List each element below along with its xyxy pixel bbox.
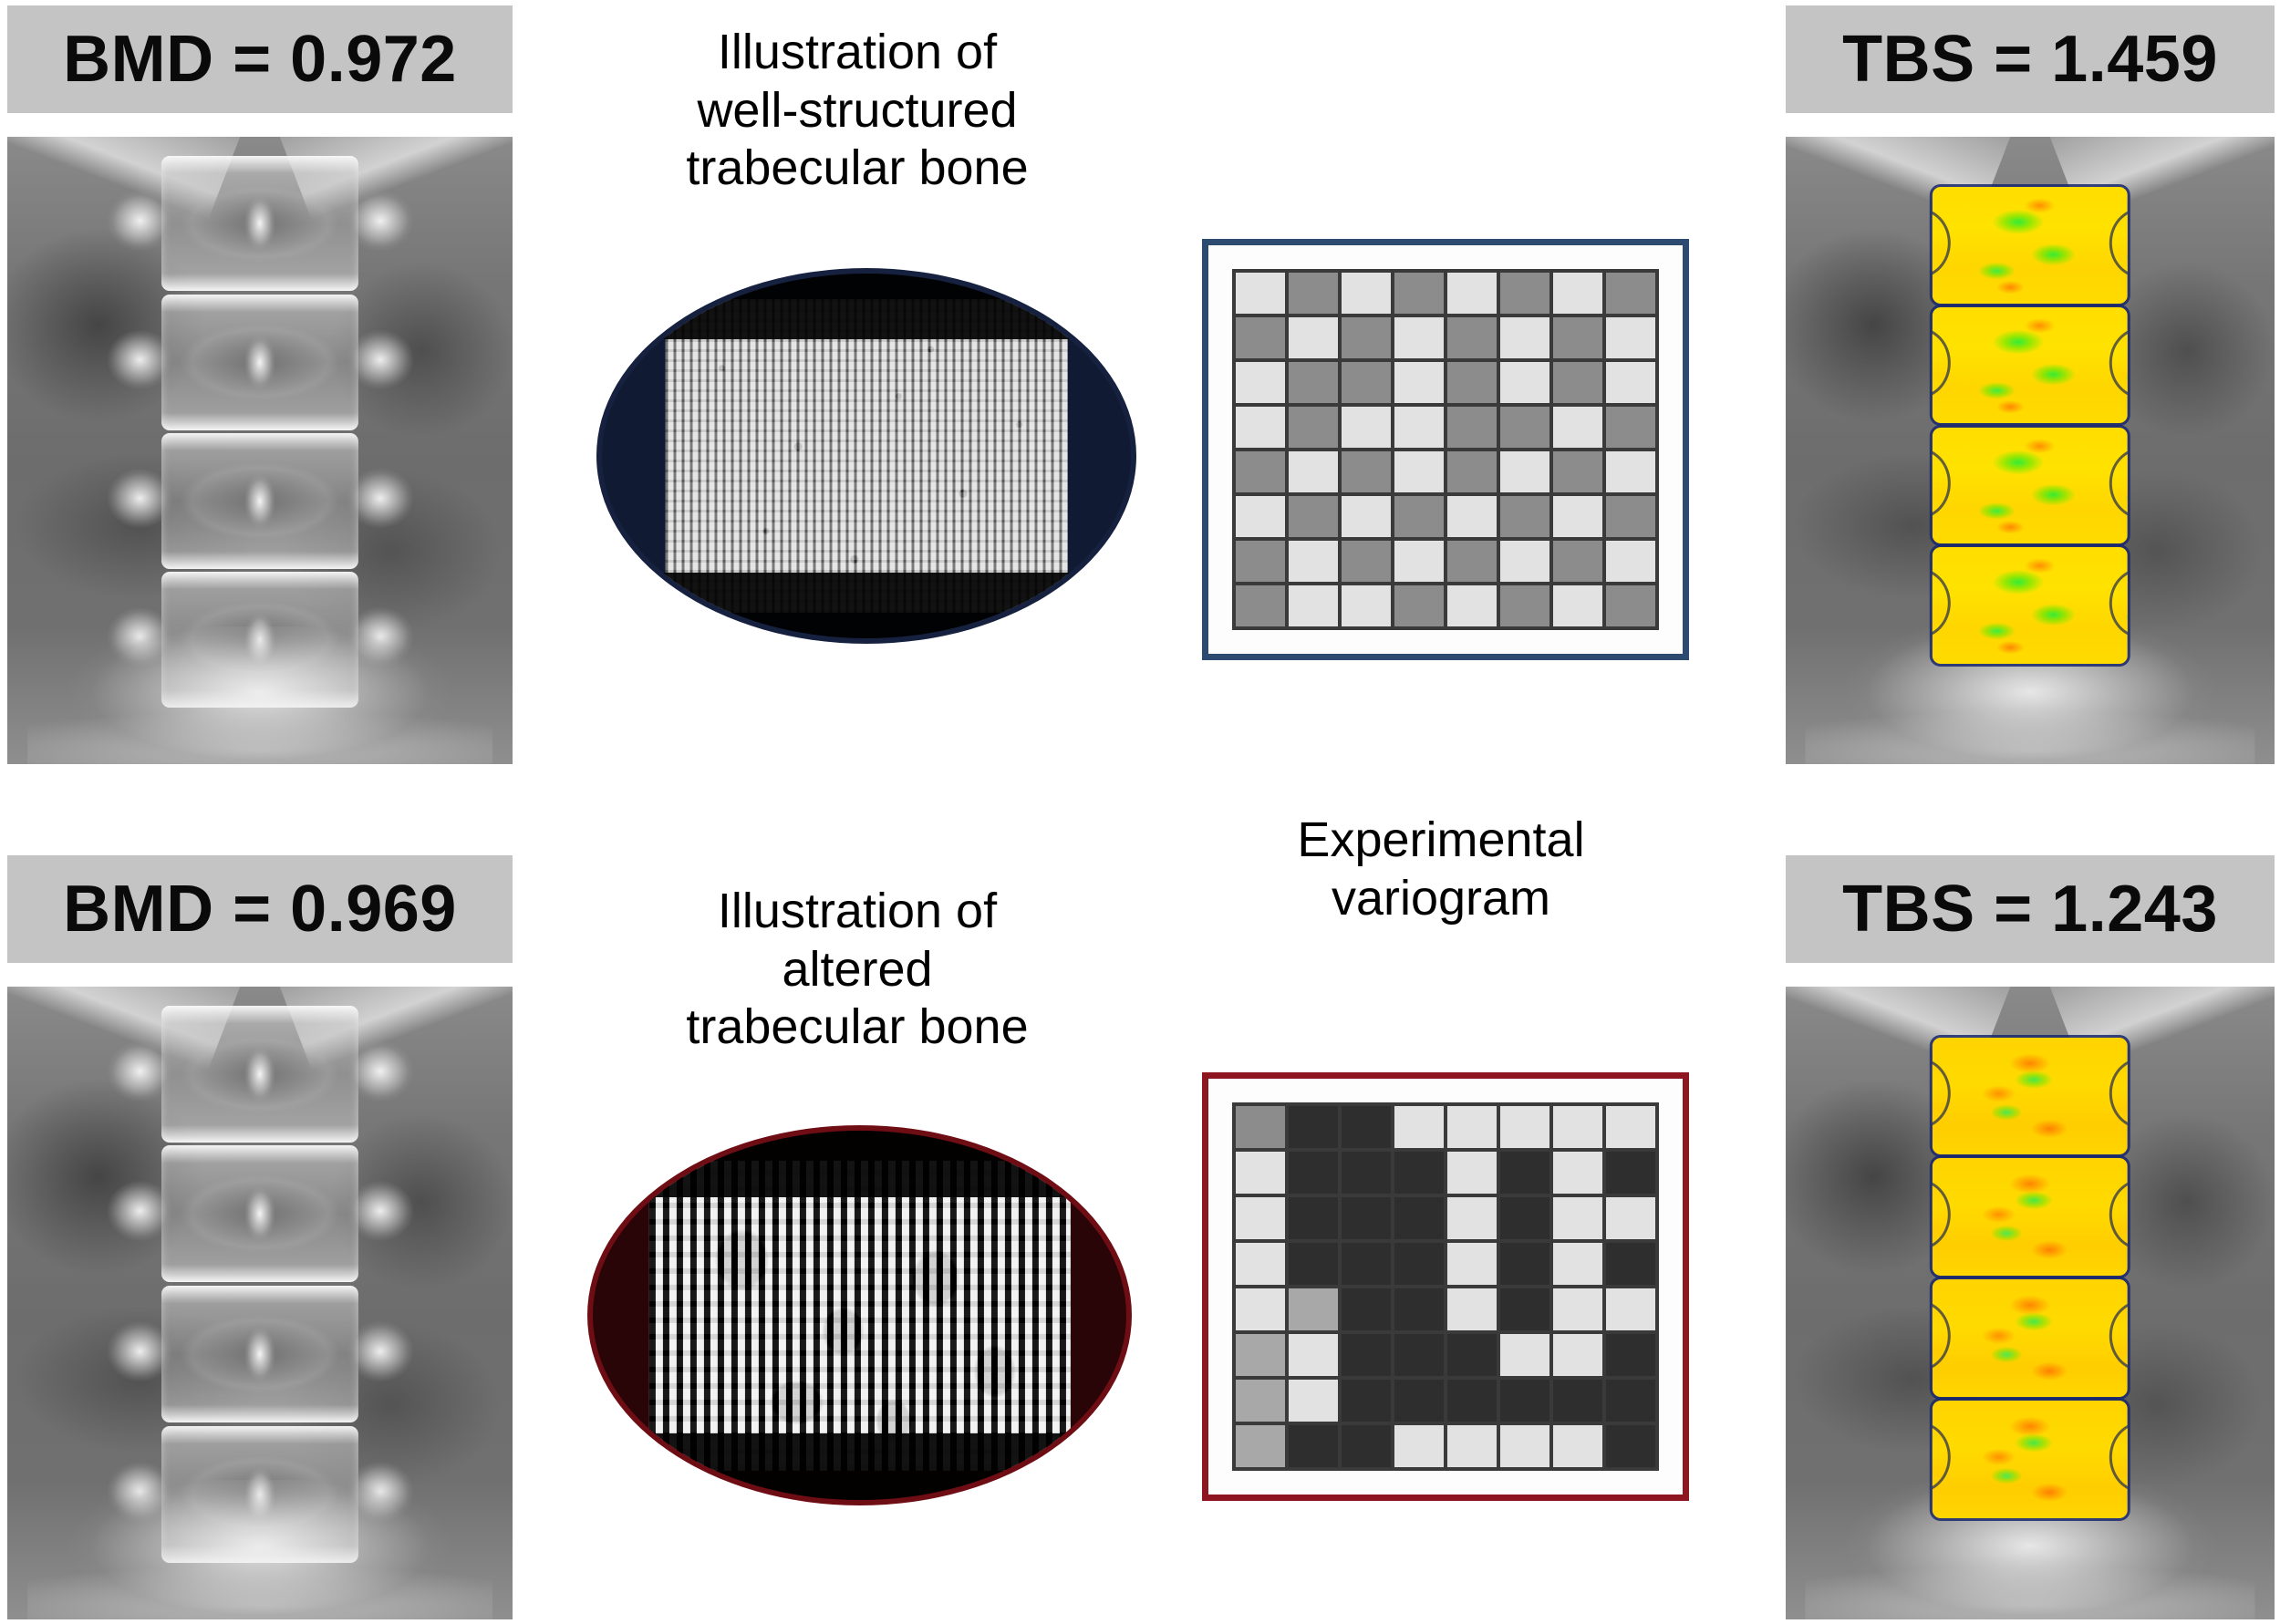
variogram-cell-r4-c7 <box>1553 1243 1602 1285</box>
variogram-cell-r2-c2 <box>1289 317 1338 358</box>
vertebra-l3 <box>161 1286 358 1422</box>
variogram-cell-r7-c7 <box>1553 541 1602 582</box>
spinous-process-icon <box>241 1181 278 1246</box>
variogram-cell-r6-c3 <box>1342 1334 1391 1376</box>
variogram-cell-r5-c1 <box>1236 451 1285 492</box>
variogram-cell-r6-c7 <box>1553 496 1602 537</box>
variogram-cell-r3-c4 <box>1394 362 1444 403</box>
variogram-cell-r7-c3 <box>1342 541 1391 582</box>
variogram-cell-r3-c7 <box>1553 1197 1602 1239</box>
variogram-cell-r1-c5 <box>1447 273 1497 314</box>
variogram-cell-r5-c5 <box>1447 451 1497 492</box>
tbs-vertebra-l2 <box>1933 307 2128 424</box>
tbs-bmd-comparison-figure: BMD = 0.972 Illustration of well-structu… <box>0 0 2280 1624</box>
vertebra-l1 <box>161 1006 358 1143</box>
variogram-cell-r7-c7 <box>1553 1380 1602 1422</box>
variogram-cell-r1-c8 <box>1606 1106 1655 1148</box>
variogram-cell-r1-c5 <box>1447 1106 1497 1148</box>
variogram-cell-r8-c6 <box>1500 585 1549 626</box>
variogram-cell-r7-c2 <box>1289 1380 1338 1422</box>
variogram-cell-r6-c5 <box>1447 496 1497 537</box>
variogram-cell-r6-c6 <box>1500 1334 1549 1376</box>
variogram-cell-r3-c7 <box>1553 362 1602 403</box>
variogram-cell-r7-c1 <box>1236 541 1285 582</box>
variogram-cell-r8-c6 <box>1500 1425 1549 1467</box>
bone-shade-top <box>593 1131 1126 1197</box>
variogram-cell-r3-c8 <box>1606 362 1655 403</box>
spinous-process-icon <box>241 1041 278 1107</box>
variogram-cell-r4-c7 <box>1553 407 1602 448</box>
bone-shade-top <box>602 274 1131 339</box>
variogram-cell-r7-c2 <box>1289 541 1338 582</box>
variogram-cell-r2-c4 <box>1394 1152 1444 1194</box>
variogram-cell-r5-c6 <box>1500 451 1549 492</box>
variogram-cell-r7-c5 <box>1447 1380 1497 1422</box>
variogram-cell-r5-c5 <box>1447 1288 1497 1330</box>
variogram-cell-r1-c8 <box>1606 273 1655 314</box>
variogram-cell-r1-c7 <box>1553 273 1602 314</box>
variogram-cell-r8-c4 <box>1394 585 1444 626</box>
variogram-cell-r8-c1 <box>1236 585 1285 626</box>
variogram-cell-r1-c2 <box>1289 1106 1338 1148</box>
dxa-spine-scan-altered <box>7 987 513 1619</box>
variogram-cell-r6-c7 <box>1553 1334 1602 1376</box>
variogram-cell-r7-c6 <box>1500 541 1549 582</box>
variogram-cell-r8-c7 <box>1553 1425 1602 1467</box>
variogram-grid-well-structured <box>1232 269 1659 630</box>
variogram-cell-r4-c1 <box>1236 407 1285 448</box>
variogram-cell-r4-c6 <box>1500 1243 1549 1285</box>
variogram-cell-r1-c6 <box>1500 273 1549 314</box>
variogram-cell-r8-c5 <box>1447 585 1497 626</box>
variogram-cell-r5-c7 <box>1553 451 1602 492</box>
variogram-cell-r1-c7 <box>1553 1106 1602 1148</box>
tbs-value-box-bottom: TBS = 1.243 <box>1786 855 2275 963</box>
variogram-cell-r1-c2 <box>1289 273 1338 314</box>
variogram-cell-r2-c3 <box>1342 317 1391 358</box>
tbs-map-scan-altered <box>1786 987 2275 1619</box>
tbs-vertebra-l3 <box>1933 1279 2128 1397</box>
variogram-cell-r7-c3 <box>1342 1380 1391 1422</box>
variogram-cell-r1-c4 <box>1394 273 1444 314</box>
tbs-color-overlay-well-structured <box>1933 187 2128 664</box>
variogram-cell-r5-c2 <box>1289 451 1338 492</box>
variogram-cell-r4-c2 <box>1289 407 1338 448</box>
variogram-cell-r3-c8 <box>1606 1197 1655 1239</box>
variogram-cell-r5-c4 <box>1394 1288 1444 1330</box>
variogram-cell-r2-c7 <box>1553 317 1602 358</box>
variogram-cell-r4-c1 <box>1236 1243 1285 1285</box>
variogram-cell-r8-c7 <box>1553 585 1602 626</box>
variogram-cell-r4-c3 <box>1342 407 1391 448</box>
variogram-grid-altered <box>1232 1102 1659 1471</box>
vertebra-l3 <box>161 433 358 569</box>
variogram-cell-r6-c2 <box>1289 496 1338 537</box>
variogram-cell-r3-c6 <box>1500 362 1549 403</box>
variogram-cell-r2-c7 <box>1553 1152 1602 1194</box>
sacrum-anatomy <box>27 626 492 764</box>
variogram-cell-r2-c1 <box>1236 317 1285 358</box>
variogram-cell-r3-c2 <box>1289 1197 1338 1239</box>
variogram-cell-r6-c4 <box>1394 496 1444 537</box>
variogram-cell-r3-c4 <box>1394 1197 1444 1239</box>
variogram-cell-r8-c2 <box>1289 1425 1338 1467</box>
variogram-cell-r2-c2 <box>1289 1152 1338 1194</box>
variogram-cell-r4-c4 <box>1394 1243 1444 1285</box>
variogram-cell-r8-c2 <box>1289 585 1338 626</box>
variogram-cell-r5-c7 <box>1553 1288 1602 1330</box>
variogram-cell-r6-c1 <box>1236 496 1285 537</box>
variogram-cell-r6-c3 <box>1342 496 1391 537</box>
variogram-cell-r1-c1 <box>1236 273 1285 314</box>
variogram-cell-r7-c1 <box>1236 1380 1285 1422</box>
spinous-process-icon <box>241 191 278 255</box>
variogram-cell-r3-c3 <box>1342 362 1391 403</box>
variogram-cell-r7-c8 <box>1606 1380 1655 1422</box>
variogram-cell-r4-c5 <box>1447 407 1497 448</box>
variogram-cell-r8-c3 <box>1342 585 1391 626</box>
vertebra-l2 <box>161 1145 358 1282</box>
variogram-cell-r2-c3 <box>1342 1152 1391 1194</box>
tbs-vertebra-l4 <box>1933 547 2128 664</box>
variogram-cell-r4-c5 <box>1447 1243 1497 1285</box>
variogram-cell-r4-c2 <box>1289 1243 1338 1285</box>
variogram-cell-r4-c8 <box>1606 407 1655 448</box>
variogram-cell-r6-c8 <box>1606 1334 1655 1376</box>
variogram-cell-r2-c8 <box>1606 317 1655 358</box>
lumbar-spine-column <box>161 156 358 708</box>
trabecular-mesh-texture <box>666 299 1068 613</box>
variogram-cell-r3-c1 <box>1236 1197 1285 1239</box>
variogram-cell-r1-c4 <box>1394 1106 1444 1148</box>
vertebra-l1 <box>161 156 358 292</box>
bmd-value-box-top: BMD = 0.972 <box>7 5 513 113</box>
tbs-color-overlay-altered <box>1933 1038 2128 1518</box>
tbs-value-label-top: TBS = 1.459 <box>1842 22 2218 97</box>
variogram-panel-well-structured <box>1202 239 1689 660</box>
variogram-cell-r4-c3 <box>1342 1243 1391 1285</box>
variogram-cell-r6-c2 <box>1289 1334 1338 1376</box>
tbs-map-scan-well-structured <box>1786 137 2275 764</box>
bone-shade-bottom <box>593 1433 1126 1500</box>
variogram-cell-r6-c5 <box>1447 1334 1497 1376</box>
variogram-cell-r5-c4 <box>1394 451 1444 492</box>
tbs-vertebra-l3 <box>1933 428 2128 544</box>
variogram-cell-r7-c4 <box>1394 1380 1444 1422</box>
caption-well-structured-bone: Illustration of well-structured trabecul… <box>584 24 1131 198</box>
variogram-cell-r2-c1 <box>1236 1152 1285 1194</box>
bmd-value-box-bottom: BMD = 0.969 <box>7 855 513 963</box>
trabecular-mesh-texture <box>648 1160 1070 1470</box>
bone-shade-bottom <box>602 573 1131 638</box>
tbs-vertebra-l1 <box>1933 1038 2128 1155</box>
variogram-cell-r7-c6 <box>1500 1380 1549 1422</box>
variogram-cell-r4-c4 <box>1394 407 1444 448</box>
vertebra-l2 <box>161 295 358 430</box>
variogram-cell-r8-c8 <box>1606 1425 1655 1467</box>
variogram-cell-r8-c4 <box>1394 1425 1444 1467</box>
variogram-cell-r8-c5 <box>1447 1425 1497 1467</box>
variogram-cell-r7-c4 <box>1394 541 1444 582</box>
variogram-cell-r2-c5 <box>1447 1152 1497 1194</box>
tbs-vertebra-l1 <box>1933 187 2128 304</box>
variogram-cell-r2-c6 <box>1500 317 1549 358</box>
variogram-cell-r1-c3 <box>1342 1106 1391 1148</box>
variogram-cell-r8-c3 <box>1342 1425 1391 1467</box>
variogram-cell-r3-c2 <box>1289 362 1338 403</box>
variogram-cell-r5-c3 <box>1342 1288 1391 1330</box>
variogram-cell-r1-c1 <box>1236 1106 1285 1148</box>
bmd-value-label-bottom: BMD = 0.969 <box>63 872 457 946</box>
bmd-value-label-top: BMD = 0.972 <box>63 22 457 97</box>
variogram-cell-r3-c6 <box>1500 1197 1549 1239</box>
variogram-cell-r6-c1 <box>1236 1334 1285 1376</box>
variogram-cell-r3-c5 <box>1447 362 1497 403</box>
spinous-process-icon <box>241 469 278 533</box>
caption-altered-bone: Illustration of altered trabecular bone <box>584 883 1131 1057</box>
variogram-cell-r3-c1 <box>1236 362 1285 403</box>
spinous-process-icon <box>241 1321 278 1387</box>
variogram-cell-r8-c1 <box>1236 1425 1285 1467</box>
caption-experimental-variogram: Experimental variogram <box>1186 812 1696 927</box>
variogram-cell-r5-c8 <box>1606 451 1655 492</box>
sacrum-anatomy <box>27 1480 492 1619</box>
spinous-process-icon <box>241 330 278 395</box>
variogram-cell-r1-c6 <box>1500 1106 1549 1148</box>
variogram-cell-r2-c6 <box>1500 1152 1549 1194</box>
variogram-cell-r3-c3 <box>1342 1197 1391 1239</box>
variogram-cell-r6-c6 <box>1500 496 1549 537</box>
variogram-cell-r2-c8 <box>1606 1152 1655 1194</box>
variogram-cell-r4-c6 <box>1500 407 1549 448</box>
tbs-vertebra-l2 <box>1933 1158 2128 1276</box>
tbs-vertebra-l4 <box>1933 1401 2128 1518</box>
dxa-spine-scan-well-structured <box>7 137 513 764</box>
variogram-cell-r6-c8 <box>1606 496 1655 537</box>
variogram-cell-r5-c6 <box>1500 1288 1549 1330</box>
variogram-cell-r8-c8 <box>1606 585 1655 626</box>
trabecular-bone-image-well-structured <box>602 274 1131 638</box>
variogram-cell-r2-c4 <box>1394 317 1444 358</box>
variogram-cell-r6-c4 <box>1394 1334 1444 1376</box>
variogram-cell-r5-c3 <box>1342 451 1391 492</box>
variogram-cell-r2-c5 <box>1447 317 1497 358</box>
variogram-cell-r1-c3 <box>1342 273 1391 314</box>
variogram-cell-r7-c5 <box>1447 541 1497 582</box>
variogram-cell-r7-c8 <box>1606 541 1655 582</box>
variogram-panel-altered <box>1202 1072 1689 1501</box>
trabecular-bone-image-altered <box>593 1131 1126 1500</box>
variogram-cell-r3-c5 <box>1447 1197 1497 1239</box>
variogram-cell-r4-c8 <box>1606 1243 1655 1285</box>
lumbar-spine-column <box>161 1006 358 1563</box>
variogram-cell-r5-c2 <box>1289 1288 1338 1330</box>
tbs-value-box-top: TBS = 1.459 <box>1786 5 2275 113</box>
tbs-value-label-bottom: TBS = 1.243 <box>1842 872 2218 946</box>
variogram-cell-r5-c1 <box>1236 1288 1285 1330</box>
variogram-cell-r5-c8 <box>1606 1288 1655 1330</box>
